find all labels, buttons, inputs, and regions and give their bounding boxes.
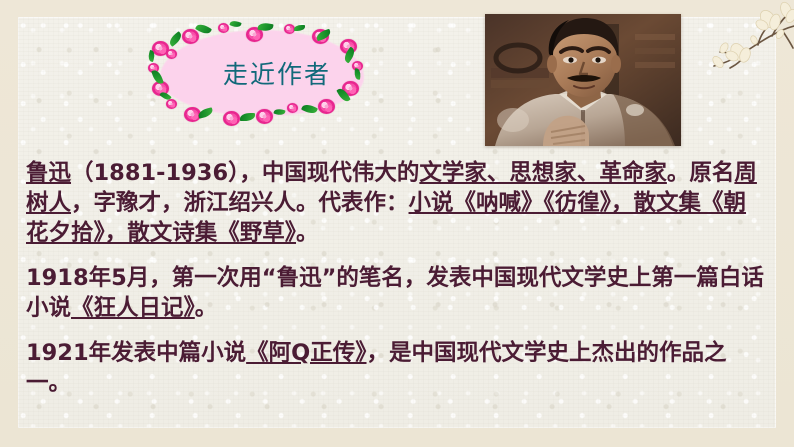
text-run: ，字豫才，浙江绍兴人。代表作： — [71, 190, 409, 216]
text-run: 1921年发表中篇小说 — [26, 340, 246, 366]
paragraph-1: 鲁迅（1881-1936），中国现代伟大的文学家、思想家、革命家。原名周树人，字… — [26, 158, 768, 248]
paragraph-3: 1921年发表中篇小说《阿Q正传》，是中国现代文学史上杰出的作品之一。 — [26, 338, 768, 398]
text-run: 。 — [195, 295, 218, 321]
magnolia-branch-decoration — [702, 0, 794, 78]
text-run: （1881-1936），中国现代伟大的 — [71, 160, 419, 186]
text-run-underlined: 《阿Q正传》 — [246, 340, 366, 366]
text-run-underlined: 《狂人日记》 — [71, 295, 195, 321]
text-run: 。原名 — [667, 160, 735, 186]
author-biography-text: 鲁迅（1881-1936），中国现代伟大的文学家、思想家、革命家。原名周树人，字… — [26, 158, 768, 398]
text-run-underlined: 鲁迅 — [26, 160, 71, 186]
slide-canvas: 走近作者 — [0, 0, 794, 447]
page-title: 走近作者 — [146, 19, 378, 127]
text-run: 。 — [296, 220, 319, 246]
title-floral-banner: 走近作者 — [146, 19, 378, 127]
author-portrait-image — [485, 14, 681, 146]
paragraph-2: 1918年5月，第一次用“鲁迅”的笔名，发表中国现代文学史上第一篇白话小说《狂人… — [26, 263, 768, 323]
text-run-underlined: 文学家、思想家、革命家 — [419, 160, 667, 186]
